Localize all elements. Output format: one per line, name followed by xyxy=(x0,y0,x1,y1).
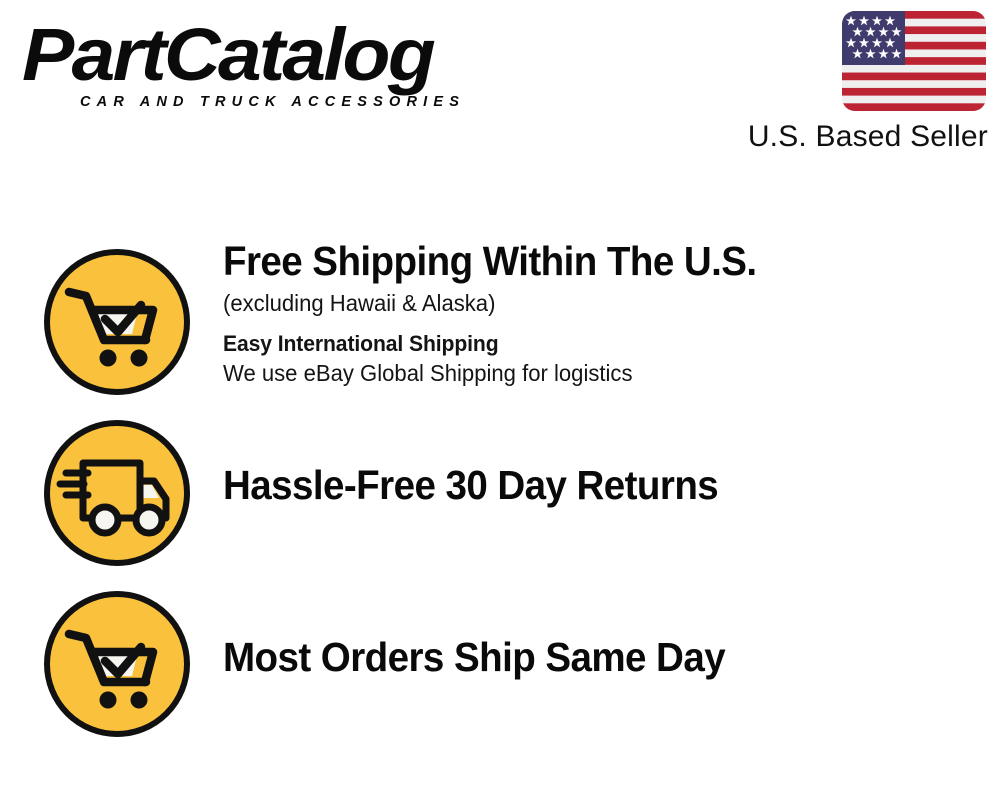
us-flag-icon xyxy=(842,11,986,111)
feature-text-block: Hassle-Free 30 Day Returns xyxy=(223,462,983,508)
feature-subtitle-detail: We use eBay Global Shipping for logistic… xyxy=(223,359,953,388)
feature-subtitle: (excluding Hawaii & Alaska) xyxy=(223,289,953,318)
feature-title: Hassle-Free 30 Day Returns xyxy=(223,462,937,508)
feature-text-block: Free Shipping Within The U.S. (excluding… xyxy=(223,238,983,388)
us-based-seller-label: U.S. Based Seller xyxy=(748,119,988,155)
feature-row: Free Shipping Within The U.S. (excluding… xyxy=(0,238,1000,410)
brand-logo: PartCatalog CAR AND TRUCK ACCESSORIES xyxy=(22,18,492,114)
shopping-cart-check-icon xyxy=(42,248,192,398)
brand-wordmark: PartCatalog xyxy=(22,18,520,92)
feature-title: Free Shipping Within The U.S. xyxy=(223,238,937,284)
delivery-truck-icon xyxy=(42,419,192,569)
feature-title: Most Orders Ship Same Day xyxy=(223,634,937,680)
feature-row: Hassle-Free 30 Day Returns xyxy=(0,410,1000,582)
brand-tagline: CAR AND TRUCK ACCESSORIES xyxy=(80,94,492,110)
feature-row: Most Orders Ship Same Day xyxy=(0,581,1000,753)
promo-banner: PartCatalog CAR AND TRUCK ACCESSORIES xyxy=(0,0,1000,800)
feature-text-block: Most Orders Ship Same Day xyxy=(223,634,983,680)
shopping-cart-check-icon xyxy=(42,590,192,740)
feature-subtitle-strong: Easy International Shipping xyxy=(223,330,953,358)
